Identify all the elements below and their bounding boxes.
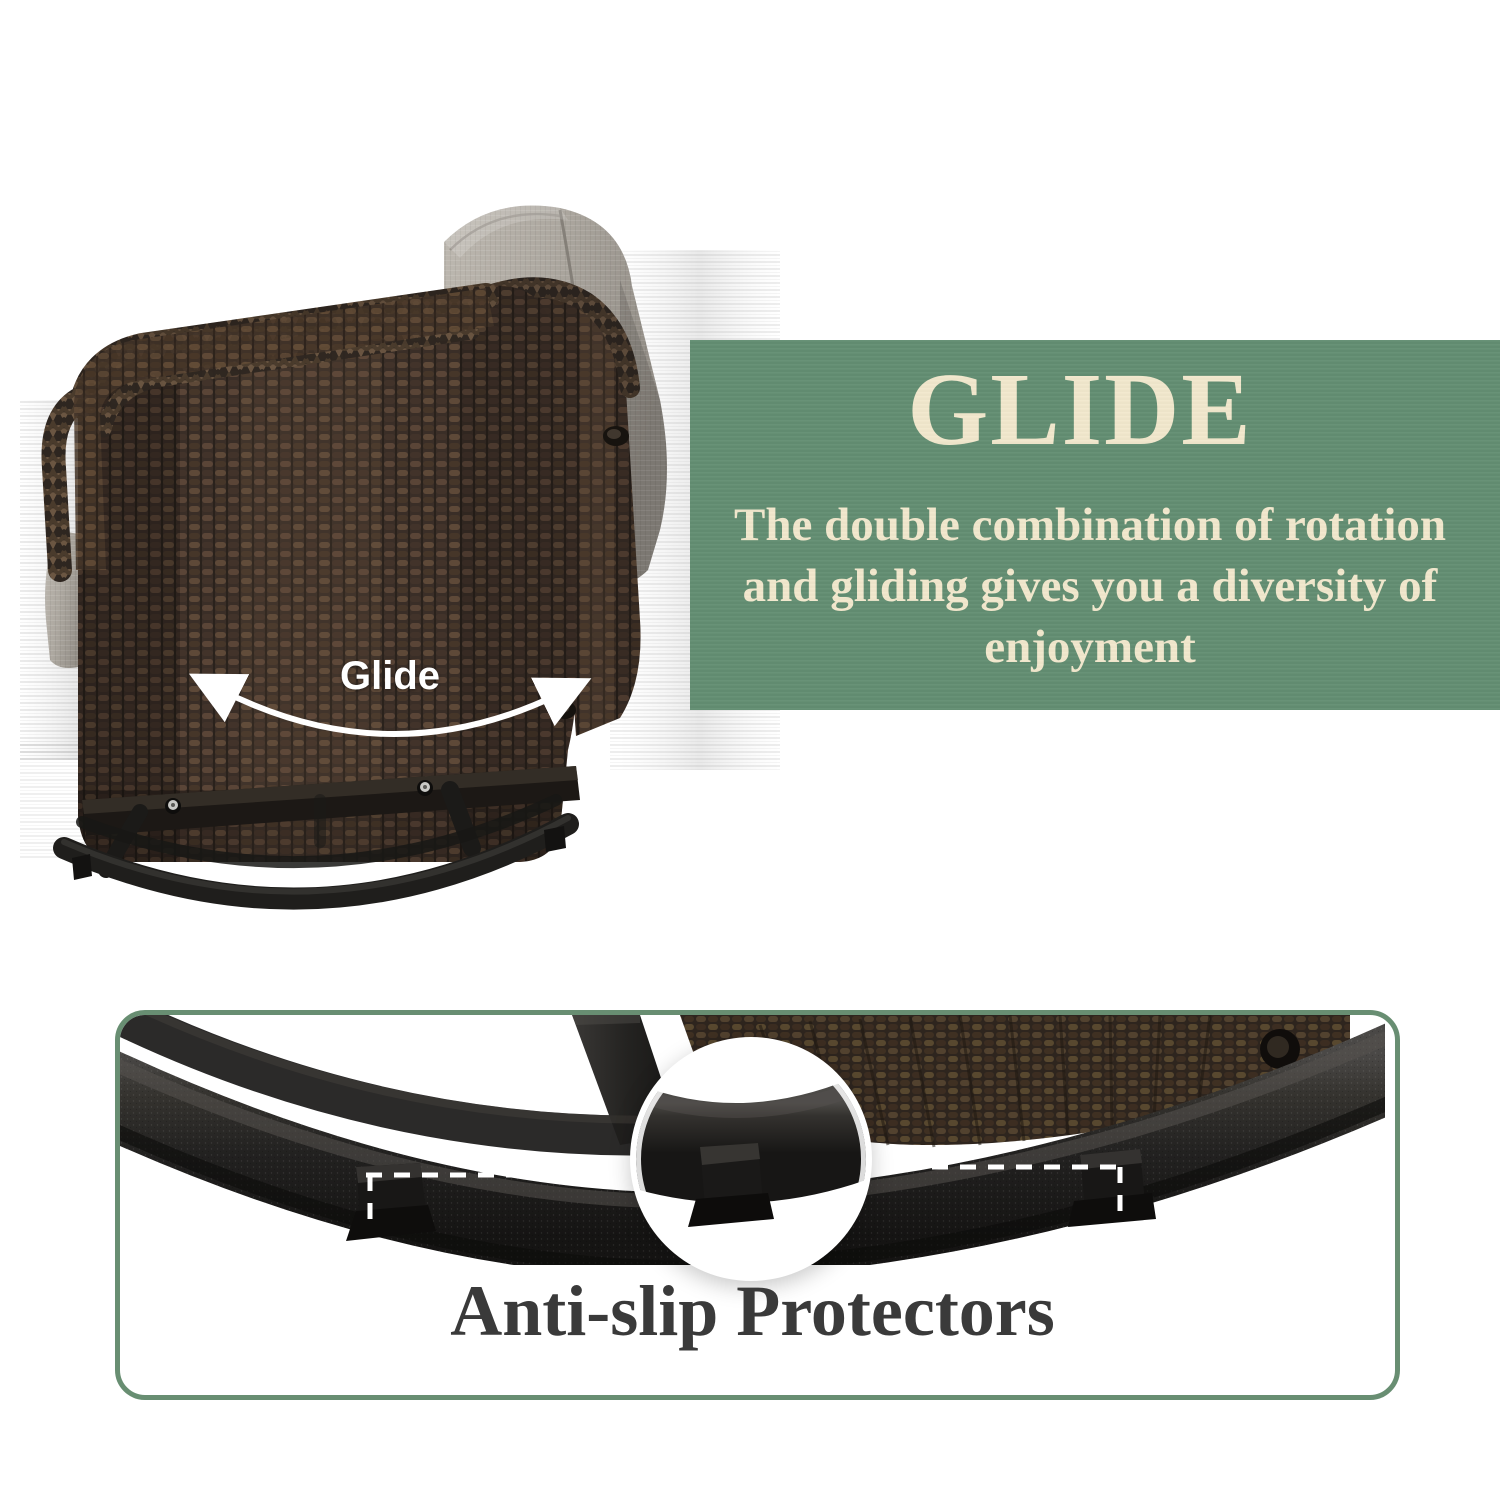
panel-title: GLIDE [690,358,1470,462]
back-hardware-knob [603,426,629,446]
anti-slip-caption: Anti-slip Protectors [120,1270,1385,1353]
glide-feature-panel: GLIDE The double combination of rotation… [690,340,1500,710]
magnifier-lens-anti-slip-protector [630,1037,872,1281]
base-screw [417,780,433,796]
anti-slip-protector [544,826,566,852]
anti-slip-detail-card: Anti-slip Protectors [115,1010,1400,1400]
anti-slip-protector [72,854,92,880]
product-image-swivel-glider-chair [20,100,780,920]
base-screw [165,798,181,814]
product-feature-image: Glide [0,0,1500,1500]
panel-description: The double combination of rotation and g… [710,495,1470,678]
seat-hardware-bolt [554,701,576,719]
